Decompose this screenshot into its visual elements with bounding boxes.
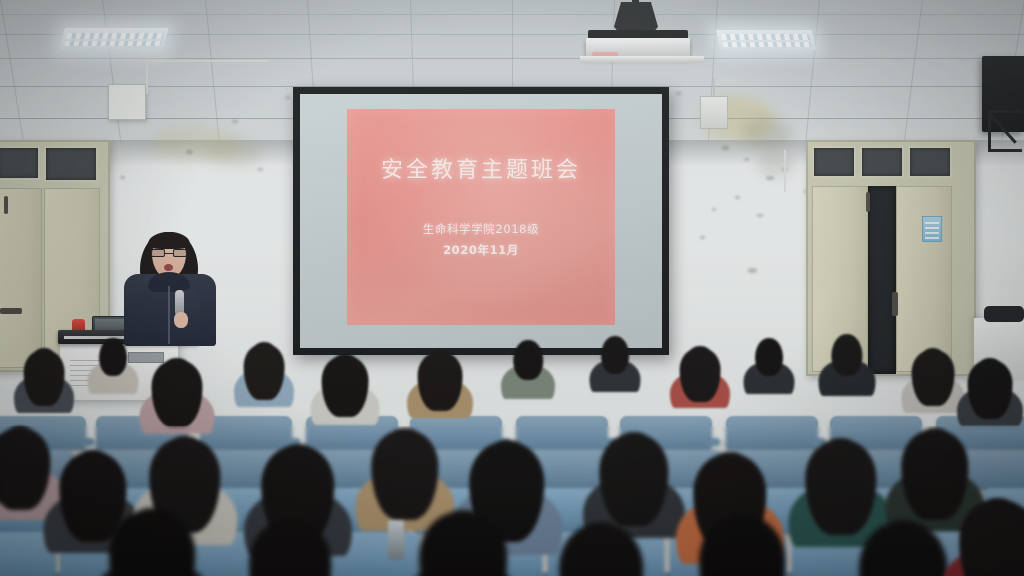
light-tube [64, 41, 161, 47]
cabinet-dark-object [984, 306, 1024, 322]
door-notice-sign [922, 216, 942, 242]
wall-speck [766, 176, 774, 180]
presenter-mouth [164, 264, 173, 271]
student-head [916, 348, 950, 392]
student [680, 346, 720, 428]
student-head [378, 428, 432, 498]
student-head [831, 334, 862, 376]
student [0, 426, 50, 530]
door-hinge-left [4, 196, 8, 214]
student-head [268, 444, 327, 520]
student-head [812, 438, 869, 512]
lecture-hall-seat[interactable] [726, 416, 818, 450]
student [598, 336, 632, 414]
student [244, 342, 284, 426]
door-transom-right-b [860, 146, 904, 178]
student-head [28, 348, 61, 392]
wall-service-box [108, 84, 146, 120]
student [110, 508, 194, 576]
student-head [422, 350, 458, 396]
wall-speck [748, 268, 757, 273]
wall-speck [258, 168, 263, 171]
door-transom-right-a [812, 146, 856, 178]
wall-speck [186, 150, 193, 154]
door-transom-right-c [908, 146, 952, 178]
student [322, 354, 368, 442]
wall-speck [722, 146, 729, 150]
student-head [684, 346, 717, 388]
seated-students [0, 332, 1024, 576]
student-head [513, 340, 543, 380]
wall-speck [232, 120, 238, 123]
slide-title: 安全教育主题班会 [347, 152, 615, 184]
seat-armrest [706, 438, 720, 446]
student [860, 520, 946, 576]
student-head [248, 342, 281, 386]
student-head [157, 358, 198, 410]
presenter-glasses [151, 249, 187, 257]
wall-speck [676, 92, 681, 95]
student [968, 358, 1012, 444]
presenter-hand [174, 312, 188, 328]
student [250, 518, 330, 576]
student-head [156, 436, 213, 510]
student [960, 498, 1024, 576]
wall-speck [700, 236, 705, 239]
student [560, 522, 642, 576]
student-head [606, 432, 662, 504]
junction-box-wire [713, 78, 715, 98]
slide-subtitle-line2: 2020年11月 [347, 242, 615, 258]
seat-armrest [80, 438, 94, 446]
projector-hotspot [347, 109, 615, 325]
wall-stain [206, 140, 262, 166]
ceiling-grid-line-v [102, 0, 122, 151]
student-head [908, 428, 962, 498]
ceiling-grid-line-v [805, 0, 821, 151]
student [418, 350, 462, 436]
wall-conduit-right [784, 150, 786, 192]
student [510, 340, 546, 420]
door-transom-left-a [0, 146, 40, 180]
student [700, 514, 784, 576]
presentation-slide: 安全教育主题班会 生命科学学院2018级 2020年11月 [347, 109, 615, 325]
door-handle-left[interactable] [0, 308, 22, 314]
student-head [972, 358, 1008, 404]
student-head [99, 338, 127, 376]
wall-speck [286, 96, 290, 99]
presenter-at-lectern [118, 228, 222, 340]
wall-speck [735, 196, 740, 199]
recessed-fluorescent-panel [716, 30, 816, 50]
lecture-hall-photo: 安全教育主题班会 生命科学学院2018级 2020年11月 [0, 0, 1024, 576]
wall-stain [742, 118, 792, 148]
student-head [601, 336, 629, 374]
ceiling-grid-line-v [0, 0, 25, 150]
wall-speck [744, 158, 749, 161]
projector-shelf [580, 56, 704, 63]
student [912, 348, 954, 432]
screen-surface: 安全教育主题班会 生命科学学院2018级 2020年11月 [300, 94, 662, 348]
wall-conduit-horizontal [148, 60, 268, 62]
wall-stain [756, 152, 796, 176]
student [752, 338, 786, 416]
light-tube [66, 33, 163, 39]
student [96, 338, 130, 416]
slide-subtitle-line1: 生命科学学院2018级 [347, 221, 615, 237]
ceiling-grid-line-v [902, 0, 922, 151]
student [420, 510, 506, 576]
student-head [0, 426, 45, 490]
light-tube [722, 42, 811, 47]
student [24, 348, 64, 432]
door-hinge-right [866, 192, 870, 212]
wall-speck [757, 214, 763, 217]
projection-screen: 安全教育主题班会 生命科学学院2018级 2020年11月 [293, 87, 669, 355]
door-transom-left-b [44, 146, 98, 182]
door-handle-right[interactable] [892, 292, 898, 316]
wall-speck [120, 176, 125, 179]
light-tube [721, 34, 810, 39]
speaker-bracket [988, 110, 1024, 154]
water-bottle [388, 520, 404, 560]
student-head [326, 354, 364, 402]
student [828, 334, 866, 416]
wall-speck [712, 208, 716, 211]
student-head [755, 338, 783, 376]
ceiling-projector [586, 26, 690, 58]
presenter-fringe [148, 232, 190, 249]
student-head [967, 498, 1024, 576]
student-head [477, 440, 538, 518]
wall-junction-box [700, 96, 728, 129]
wall-conduit [146, 60, 148, 94]
recessed-fluorescent-panel [59, 28, 168, 50]
